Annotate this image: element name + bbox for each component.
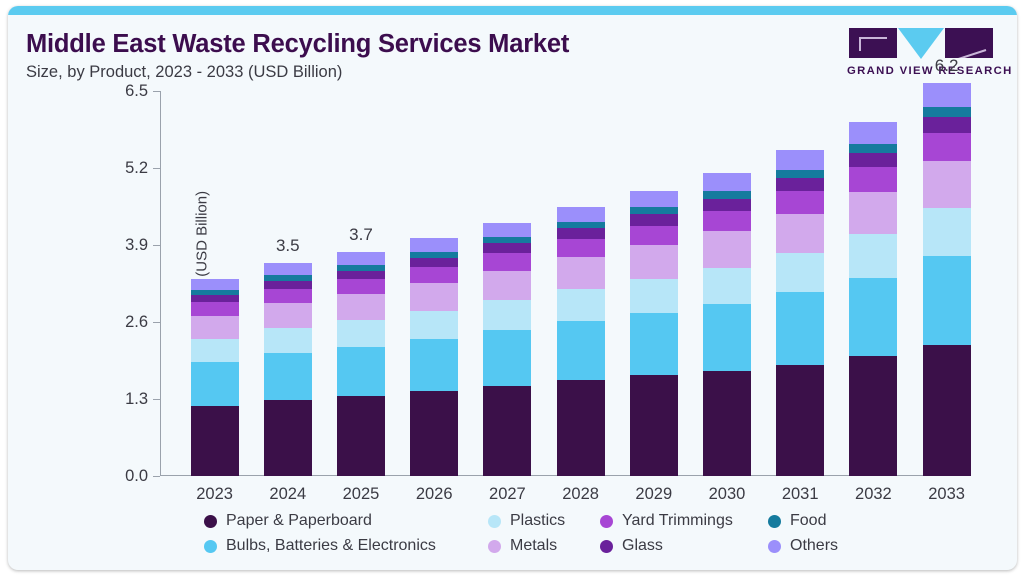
legend-swatch-icon — [488, 515, 501, 528]
bar-segment[interactable] — [630, 191, 678, 208]
bar-segment[interactable] — [776, 178, 824, 191]
bar-segment[interactable] — [337, 347, 385, 396]
bar-segment[interactable] — [776, 170, 824, 178]
bar-segment[interactable] — [923, 107, 971, 117]
bar-segment[interactable] — [410, 283, 458, 311]
bar-segment[interactable] — [557, 257, 605, 288]
bar-value-label: 6.2 — [910, 56, 983, 76]
bar-segment[interactable] — [703, 231, 751, 267]
bar-segment[interactable] — [557, 228, 605, 239]
y-axis-tick-label: 0.0 — [102, 467, 148, 486]
bar-segment[interactable] — [191, 295, 239, 303]
bar-2031[interactable] — [776, 150, 824, 476]
y-axis-tick-label: 6.5 — [102, 82, 148, 101]
y-axis-tick-label: 1.3 — [102, 390, 148, 409]
bar-segment[interactable] — [264, 303, 312, 328]
bar-segment[interactable] — [849, 192, 897, 235]
bar-segment[interactable] — [849, 122, 897, 143]
legend-item[interactable]: Others — [768, 537, 838, 555]
bar-segment[interactable] — [630, 207, 678, 214]
chart-title: Middle East Waste Recycling Services Mar… — [26, 30, 569, 59]
bar-segment[interactable] — [630, 226, 678, 246]
bar-segment[interactable] — [410, 339, 458, 391]
bar-segment[interactable] — [923, 133, 971, 161]
bar-segment[interactable] — [703, 268, 751, 305]
bar-segment[interactable] — [776, 253, 824, 293]
bar-segment[interactable] — [483, 300, 531, 330]
bar-segment[interactable] — [849, 153, 897, 167]
y-axis-tick-mark — [153, 168, 160, 169]
bar-segment[interactable] — [483, 271, 531, 301]
bar-segment[interactable] — [776, 214, 824, 253]
legend-item-label: Glass — [622, 537, 663, 555]
bar-segment[interactable] — [849, 144, 897, 153]
logo-right-box-icon — [945, 28, 993, 58]
y-axis-tick-mark — [153, 91, 160, 92]
legend-swatch-icon — [768, 540, 781, 553]
legend-item-label: Food — [790, 512, 826, 530]
bar-2033[interactable] — [923, 83, 971, 476]
legend-swatch-icon — [488, 540, 501, 553]
bar-segment[interactable] — [191, 406, 239, 476]
legend-item[interactable]: Paper & Paperboard — [204, 512, 372, 530]
y-axis-tick-mark — [153, 399, 160, 400]
bar-value-label: 3.5 — [251, 236, 324, 256]
bar-2032[interactable] — [849, 122, 897, 476]
bar-segment[interactable] — [483, 253, 531, 270]
bar-segment[interactable] — [264, 263, 312, 275]
bar-segment[interactable] — [191, 339, 239, 363]
bar-2030[interactable] — [703, 173, 751, 476]
bar-segment[interactable] — [264, 353, 312, 399]
bar-segment[interactable] — [923, 345, 971, 476]
bar-segment[interactable] — [923, 83, 971, 107]
logo-left-box-icon — [849, 28, 897, 58]
bar-segment[interactable] — [776, 150, 824, 170]
bar-segment[interactable] — [191, 302, 239, 315]
bar-segment[interactable] — [703, 191, 751, 199]
bar-2028[interactable] — [557, 207, 605, 477]
legend-item-label: Paper & Paperboard — [226, 512, 372, 530]
legend-item-label: Others — [790, 537, 838, 555]
bar-segment[interactable] — [337, 396, 385, 476]
chart-legend: Paper & PaperboardBulbs, Batteries & Ele… — [8, 500, 1017, 562]
legend-item-label: Bulbs, Batteries & Electronics — [226, 537, 436, 555]
y-axis-tick-mark — [153, 322, 160, 323]
bar-segment[interactable] — [923, 117, 971, 133]
legend-item[interactable]: Metals — [488, 537, 557, 555]
bar-segment[interactable] — [557, 289, 605, 322]
y-axis-tick-mark — [153, 245, 160, 246]
bar-2029[interactable] — [630, 191, 678, 476]
y-axis-tick-label: 5.2 — [102, 159, 148, 178]
legend-item-label: Yard Trimmings — [622, 512, 733, 530]
bar-segment[interactable] — [337, 320, 385, 347]
legend-item[interactable]: Food — [768, 512, 826, 530]
bar-segment[interactable] — [703, 304, 751, 370]
logo-triangle-icon — [898, 28, 944, 59]
legend-swatch-icon — [600, 540, 613, 553]
bar-segment[interactable] — [483, 330, 531, 386]
legend-item[interactable]: Yard Trimmings — [600, 512, 733, 530]
bar-segment[interactable] — [923, 208, 971, 256]
legend-swatch-icon — [204, 515, 217, 528]
bar-segment[interactable] — [337, 271, 385, 280]
bar-segment[interactable] — [410, 238, 458, 252]
bar-segment[interactable] — [557, 207, 605, 222]
legend-swatch-icon — [768, 515, 781, 528]
bar-segment[interactable] — [337, 294, 385, 320]
legend-item[interactable]: Glass — [600, 537, 663, 555]
bar-segment[interactable] — [923, 256, 971, 345]
bar-segment[interactable] — [703, 211, 751, 232]
bar-segment[interactable] — [557, 239, 605, 257]
bar-segment[interactable] — [410, 267, 458, 283]
bar-segment[interactable] — [630, 313, 678, 375]
bar-segment[interactable] — [191, 279, 239, 290]
bar-segment[interactable] — [483, 386, 531, 476]
bar-segment[interactable] — [776, 191, 824, 214]
y-axis-tick-mark — [153, 476, 160, 477]
chart-card: Middle East Waste Recycling Services Mar… — [8, 6, 1017, 570]
bar-2026[interactable] — [410, 238, 458, 476]
bar-value-label: 3.7 — [324, 225, 397, 245]
bar-segment[interactable] — [264, 281, 312, 289]
bar-segment[interactable] — [483, 243, 531, 253]
bar-segment[interactable] — [703, 199, 751, 211]
legend-item[interactable]: Plastics — [488, 512, 565, 530]
bar-segment[interactable] — [264, 328, 312, 353]
bar-segment[interactable] — [410, 258, 458, 267]
bar-segment[interactable] — [483, 223, 531, 238]
chart-header: Middle East Waste Recycling Services Mar… — [8, 15, 1017, 91]
bar-2025[interactable] — [337, 252, 385, 476]
bar-segment[interactable] — [191, 316, 239, 339]
accent-top-bar — [8, 6, 1017, 15]
bar-segment[interactable] — [849, 234, 897, 277]
bar-segment[interactable] — [630, 214, 678, 225]
bar-segment[interactable] — [630, 375, 678, 476]
bar-2027[interactable] — [483, 223, 531, 477]
y-axis-tick-label: 2.6 — [102, 313, 148, 332]
bar-segment[interactable] — [557, 321, 605, 380]
bar-segment[interactable] — [923, 161, 971, 208]
bar-2024[interactable] — [264, 263, 312, 476]
bar-segment[interactable] — [264, 400, 312, 476]
chart-plot-area: Market Size (USD Billion) 0.01.32.63.95.… — [160, 91, 1005, 476]
bar-segment[interactable] — [630, 245, 678, 279]
bar-segment[interactable] — [776, 365, 824, 476]
bar-segment[interactable] — [849, 278, 897, 357]
legend-item-label: Metals — [510, 537, 557, 555]
y-axis-tick-label: 3.9 — [102, 236, 148, 255]
bar-segment[interactable] — [630, 279, 678, 313]
chart-subtitle: Size, by Product, 2023 - 2033 (USD Billi… — [26, 63, 342, 82]
bar-segment[interactable] — [410, 391, 458, 476]
legend-swatch-icon — [204, 540, 217, 553]
bar-segment[interactable] — [191, 362, 239, 405]
bar-segment[interactable] — [264, 289, 312, 303]
bar-segment[interactable] — [703, 371, 751, 476]
bar-segment[interactable] — [703, 173, 751, 191]
y-axis-line — [160, 91, 161, 476]
bar-2023[interactable] — [191, 279, 239, 476]
bar-segment[interactable] — [849, 356, 897, 476]
legend-item[interactable]: Bulbs, Batteries & Electronics — [204, 537, 436, 555]
legend-swatch-icon — [600, 515, 613, 528]
legend-item-label: Plastics — [510, 512, 565, 530]
bar-segment[interactable] — [337, 279, 385, 294]
bar-segment[interactable] — [410, 311, 458, 339]
bar-segment[interactable] — [557, 380, 605, 476]
bar-segment[interactable] — [849, 167, 897, 192]
bar-segment[interactable] — [776, 292, 824, 364]
bar-segment[interactable] — [337, 252, 385, 265]
